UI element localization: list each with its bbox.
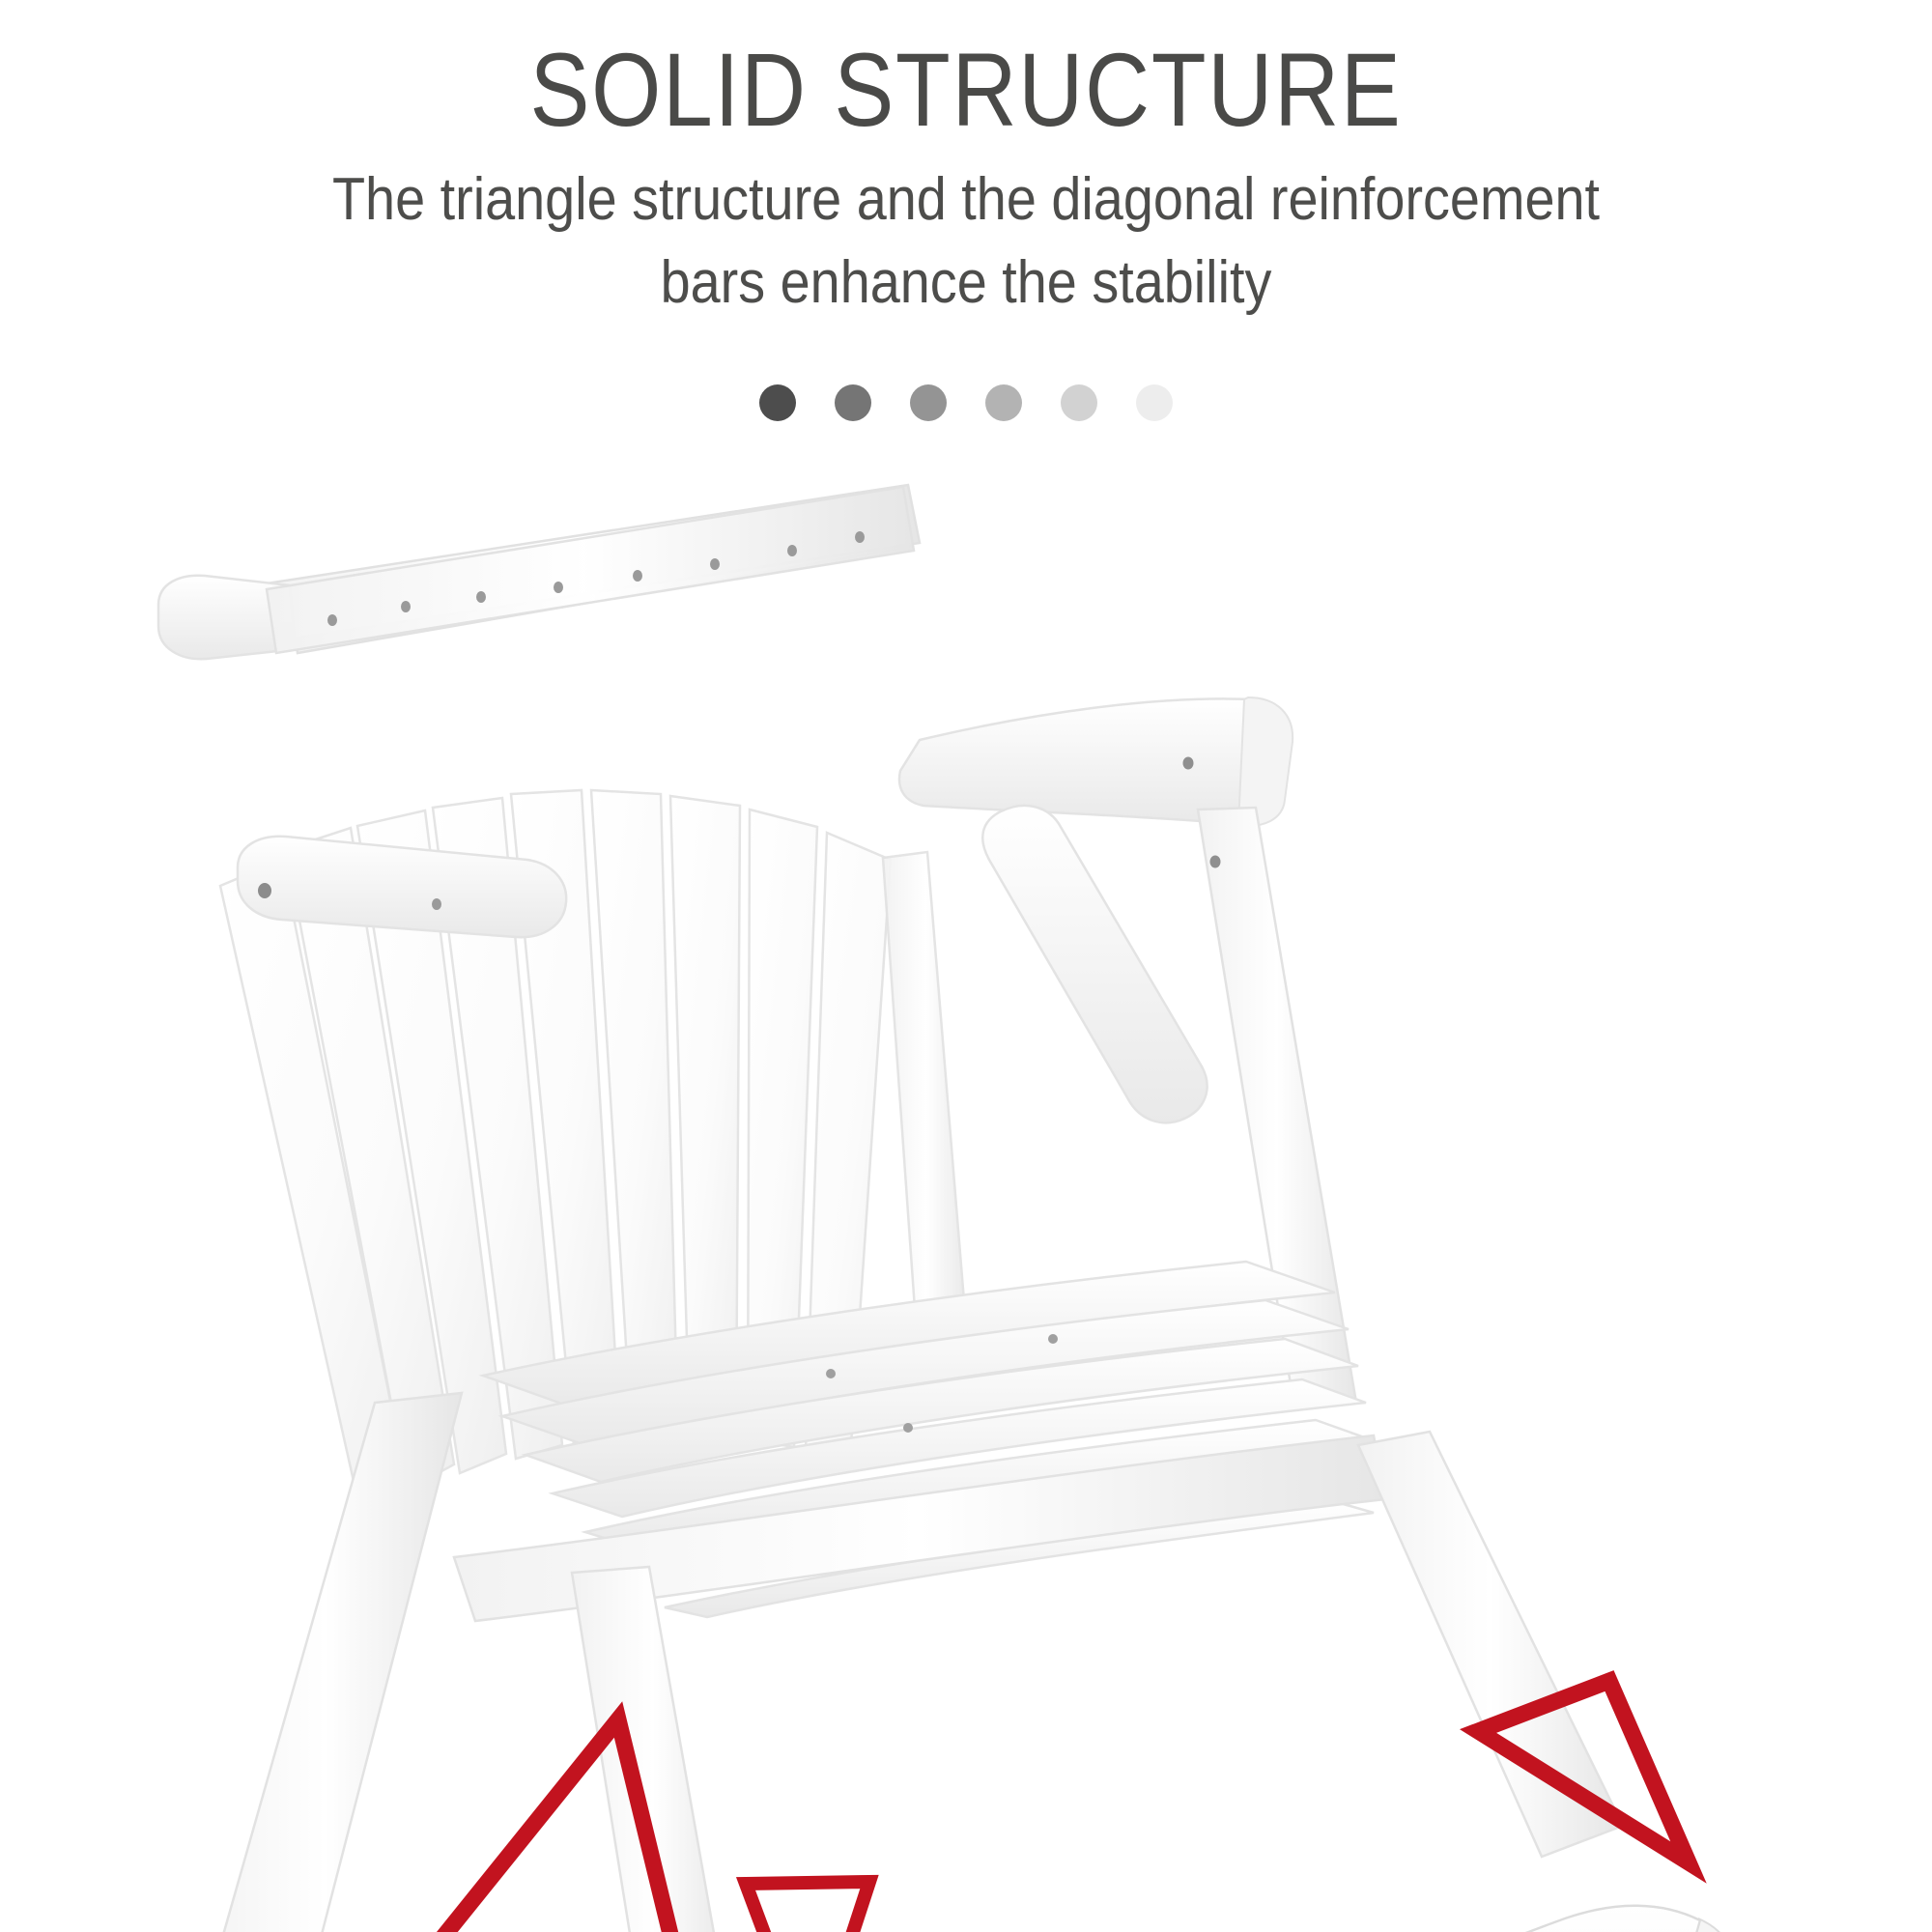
screw-dot	[826, 1369, 836, 1378]
product-photo	[0, 406, 1932, 1932]
subtitle-line-1: The triangle structure and the diagonal …	[97, 158, 1835, 241]
screw-dot	[633, 570, 642, 582]
armrest-right	[899, 697, 1293, 826]
screw-dot	[476, 591, 486, 603]
page-subtitle: The triangle structure and the diagonal …	[97, 158, 1835, 324]
subtitle-line-2: bars enhance the stability	[97, 241, 1835, 325]
screw-dot	[401, 601, 411, 612]
screw-dot	[554, 582, 563, 593]
screw-dot	[258, 883, 271, 898]
screw-dot	[1183, 757, 1194, 770]
triangle-center-diagonal-bar	[746, 1882, 869, 1932]
right-armrest-top	[899, 698, 1290, 824]
screw-dot	[1210, 856, 1221, 868]
rocking-chair-illustration	[0, 406, 1932, 1932]
screw-dot	[787, 545, 797, 556]
screw-dot	[710, 558, 720, 570]
right-armrest-cap	[1238, 697, 1293, 826]
highlight-triangle-group	[251, 1681, 1689, 1932]
header-text-block: SOLID STRUCTURE The triangle structure a…	[0, 0, 1932, 324]
page-title: SOLID STRUCTURE	[135, 37, 1797, 143]
screw-dot	[1048, 1334, 1058, 1344]
screw-dot	[855, 531, 865, 543]
screw-dot	[432, 898, 441, 910]
screw-dot	[327, 614, 337, 626]
rear-leg-left	[189, 1393, 462, 1932]
rocker-right	[1024, 1906, 1700, 1932]
diagonal-brace-right	[982, 806, 1207, 1122]
